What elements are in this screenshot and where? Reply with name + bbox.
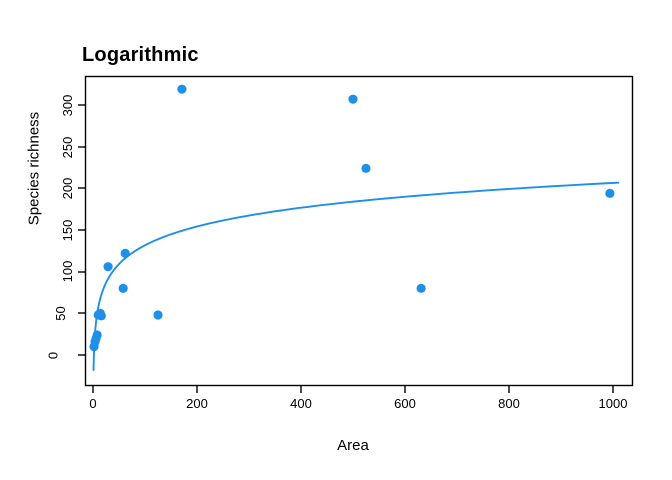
- scatter-point: [417, 284, 426, 293]
- scatter-point-group: [89, 85, 614, 352]
- scatter-point: [103, 262, 112, 271]
- scatter-point: [93, 330, 102, 339]
- scatter-point: [177, 85, 186, 94]
- chart-container: Logarithmic Species richness Area 0 200 …: [0, 0, 672, 480]
- plot-frame: [86, 77, 633, 386]
- scatter-point: [348, 95, 357, 104]
- scatter-point: [97, 311, 106, 320]
- plot-area: [0, 0, 672, 480]
- scatter-point: [361, 164, 370, 173]
- y-axis-ticks: [78, 105, 85, 355]
- logarithmic-fit-curve: [94, 183, 619, 370]
- x-axis-ticks: [93, 386, 613, 393]
- scatter-point: [605, 189, 614, 198]
- scatter-point: [153, 310, 162, 319]
- scatter-point: [119, 284, 128, 293]
- scatter-point: [121, 249, 130, 258]
